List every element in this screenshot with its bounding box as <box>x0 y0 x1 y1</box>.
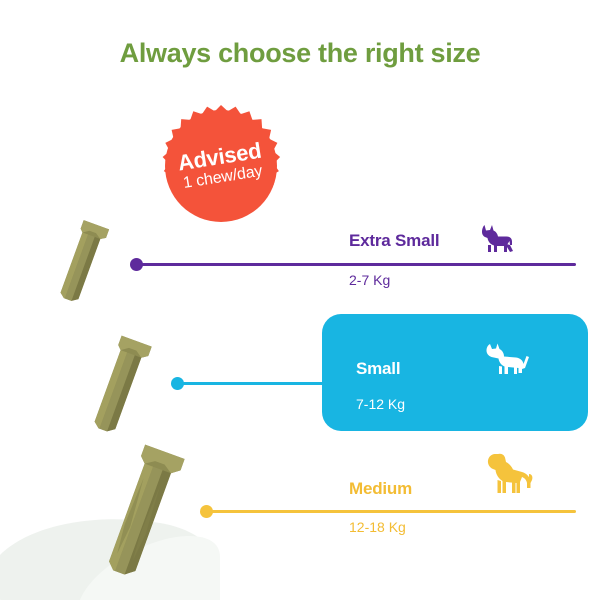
connector-line-small <box>180 382 330 385</box>
french-bulldog-icon <box>478 223 513 254</box>
badge-starburst-shape <box>158 103 284 229</box>
size-weight-small: 7-12 Kg <box>356 396 405 412</box>
chew-stick-medium <box>92 440 194 585</box>
connector-line-extra-small <box>139 263 576 266</box>
size-weight-medium: 12-18 Kg <box>349 519 406 535</box>
chew-stick-small <box>80 330 160 438</box>
west-highland-terrier-icon <box>485 341 529 379</box>
size-label-medium: Medium <box>349 479 412 499</box>
size-weight-extra-small: 2-7 Kg <box>349 272 390 288</box>
size-label-extra-small: Extra Small <box>349 231 439 251</box>
infographic-canvas: Always choose the right size Advised 1 c… <box>0 0 600 600</box>
connector-line-medium <box>209 510 576 513</box>
size-label-small: Small <box>356 359 400 379</box>
advised-badge: Advised 1 chew/day <box>158 103 284 229</box>
golden-retriever-icon <box>483 452 533 497</box>
chew-stick-extra-small <box>48 214 116 306</box>
page-title: Always choose the right size <box>0 38 600 69</box>
